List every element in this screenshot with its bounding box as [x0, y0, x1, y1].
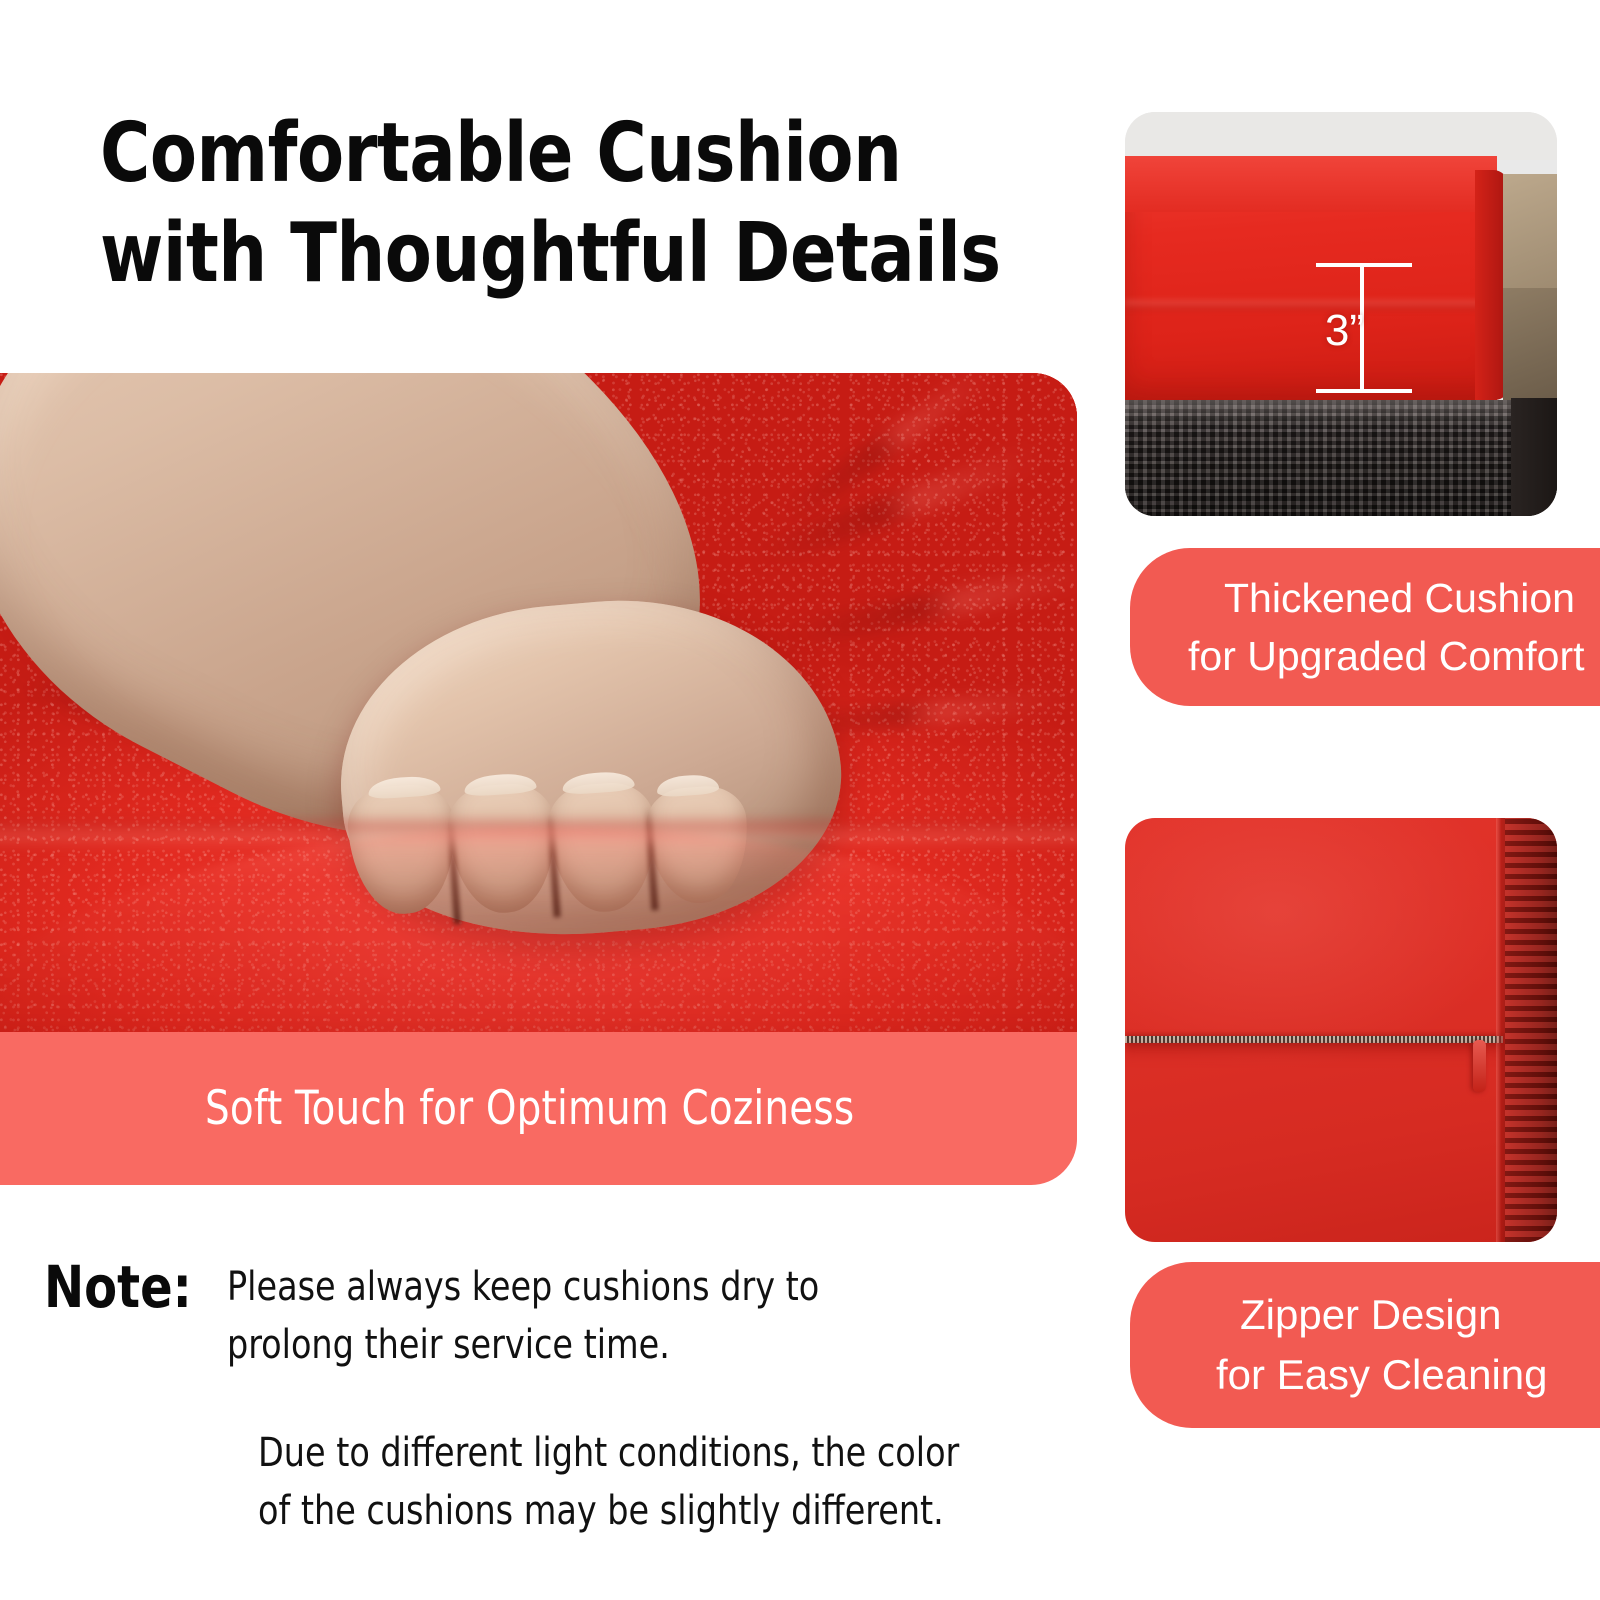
hero-caption-text: Soft Touch for Optimum Coziness [205, 1081, 854, 1136]
note-label: Note: [44, 1258, 192, 1316]
product-detail-infographic: Comfortable Cushion with Thoughtful Deta… [0, 0, 1600, 1600]
tan-seat-cushion-shadow [1503, 288, 1557, 404]
note-paragraph-2: Due to different light conditions, the c… [258, 1424, 993, 1540]
zipper-teeth [1125, 1036, 1503, 1043]
zipper-caption-line-2: for Easy Cleaning [1216, 1345, 1590, 1405]
zipper-fabric-fold [1125, 1044, 1503, 1062]
wicker-top-highlight [1125, 400, 1557, 426]
dimension-value-label: 3” [1310, 309, 1364, 353]
fingernail [464, 772, 537, 797]
zipper-caption-line-1: Zipper Design [1240, 1285, 1590, 1345]
thickness-caption-line-2: for Upgraded Comfort [1188, 627, 1590, 685]
dimension-cap-bottom [1316, 389, 1412, 393]
note-first-row: Note: Please always keep cushions dry to… [44, 1258, 1054, 1374]
red-cushion-top-face [1125, 156, 1497, 212]
wicker-right-edge [1511, 398, 1557, 516]
dimension-cap-top [1316, 263, 1412, 267]
fabric-sheen [1125, 818, 1557, 1242]
fabric-fold [778, 560, 1077, 652]
photo-backdrop [1125, 112, 1557, 160]
cushion-corner-seam [1496, 818, 1505, 1242]
hero-cushion-photo [0, 373, 1077, 1032]
zipper-detail-photo [1125, 818, 1557, 1242]
note-block: Note: Please always keep cushions dry to… [44, 1258, 1054, 1374]
tan-seat-cushion [1503, 174, 1557, 294]
fingernail [368, 775, 441, 800]
page-title: Comfortable Cushion with Thoughtful Deta… [100, 104, 1011, 304]
thickness-caption-pill: Thickened Cushion for Upgraded Comfort [1130, 548, 1600, 706]
note-paragraph-1: Please always keep cushions dry to prolo… [227, 1258, 952, 1374]
zipper-caption-pill: Zipper Design for Easy Cleaning [1130, 1262, 1600, 1428]
hero-caption-banner: Soft Touch for Optimum Coziness [0, 1032, 1077, 1185]
thickness-caption-line-1: Thickened Cushion [1224, 569, 1590, 627]
cushion-side-panel [1505, 818, 1557, 1242]
thickness-dimension-marker: 3” [1316, 263, 1412, 393]
zipper-pull-tab [1473, 1040, 1486, 1092]
